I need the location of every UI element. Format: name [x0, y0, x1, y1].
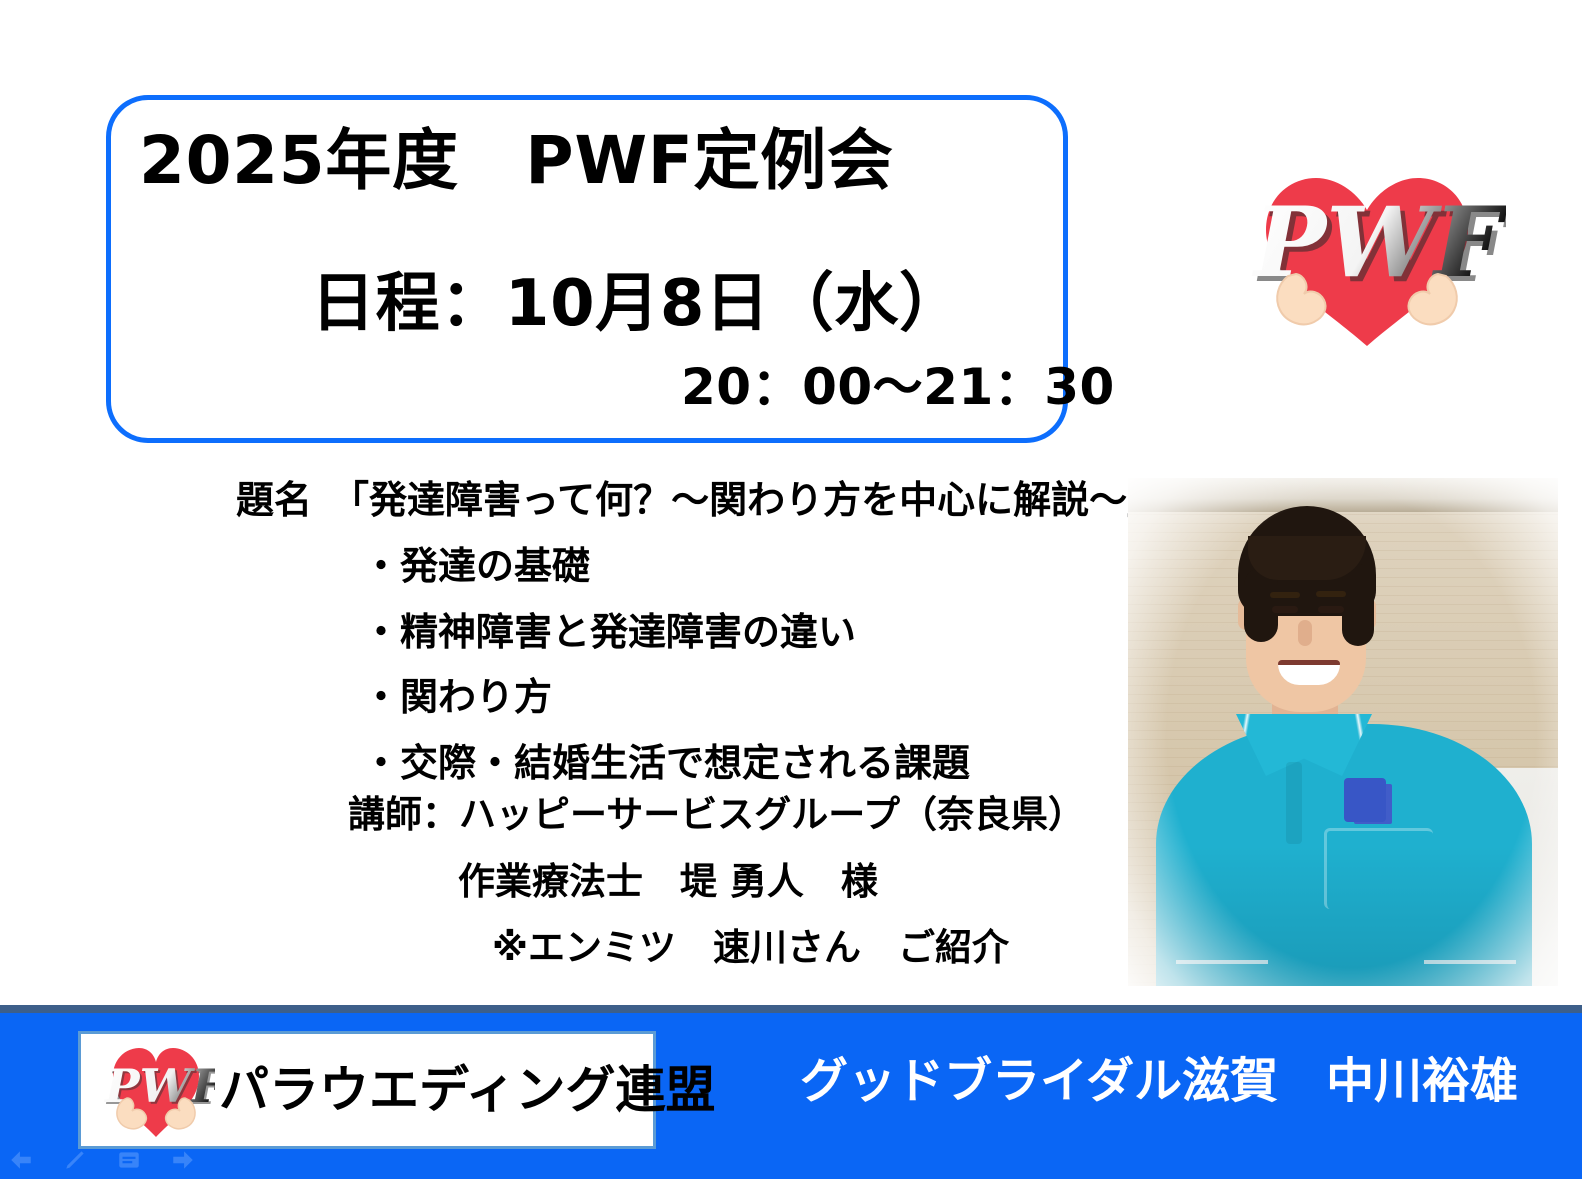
forward-arrow-icon[interactable]: [170, 1147, 196, 1173]
bullet-item-4: ・交際・結婚生活で想定される課題: [362, 743, 1096, 785]
polo-placket: [1286, 762, 1302, 844]
subject-line: 題名 「発達障害って何？〜関わり方を中心に解説〜」: [236, 480, 1096, 522]
event-time: 20：00〜21：30: [681, 362, 1115, 412]
lecturer-note: ※エンミツ 速川さん ご紹介: [492, 928, 1096, 969]
lecturer-block: 講師：ハッピーサービスグループ（奈良県） 作業療法士 堤 勇人 様 ※エンミツ …: [236, 795, 1096, 969]
lecturer-name: 作業療法士 堤 勇人 様: [458, 862, 1096, 903]
lecturer-organization: 講師：ハッピーサービスグループ（奈良県）: [348, 795, 1096, 836]
bullet-item-1: ・発達の基礎: [362, 546, 1096, 588]
mouth: [1278, 660, 1340, 685]
footer-sponsor-text: グッドブライダル滋賀 中川裕雄: [800, 1057, 1518, 1105]
sleeve-right: [1424, 960, 1516, 986]
back-arrow-icon[interactable]: [8, 1147, 34, 1173]
body-text-block: 題名 「発達障害って何？〜関わり方を中心に解説〜」 ・発達の基礎 ・精神障害と発…: [236, 480, 1096, 785]
sleeve-left: [1176, 960, 1268, 986]
event-date: 日程：10月8日（水）: [311, 272, 964, 336]
eyebrow-right: [1316, 591, 1346, 597]
lines-icon[interactable]: [116, 1147, 142, 1173]
footer-pwf-heart-icon: PWF PWF: [97, 1038, 215, 1142]
shirt-pocket: [1324, 828, 1433, 909]
footer-bar: PWF PWF パラウエディング連盟 グッドブライダル滋賀 中川裕雄: [0, 1005, 1582, 1179]
pwf-heart-logo: PWF PWF: [1228, 158, 1506, 354]
page-title: 2025年度 PWF定例会: [139, 128, 894, 194]
header-box: 2025年度 PWF定例会 日程：10月8日（水） 20：00〜21：30: [106, 95, 1068, 443]
footer-toolbar[interactable]: [8, 1147, 196, 1173]
footer-logo-text: パラウエディング連盟: [219, 1065, 716, 1115]
footer-top-strip: [0, 1005, 1582, 1013]
bullet-item-3: ・関わり方: [362, 677, 1096, 719]
eye-right: [1318, 606, 1344, 613]
bullet-item-2: ・精神障害と発達障害の違い: [362, 612, 1096, 654]
lecturer-photo: [1128, 478, 1558, 986]
footer-logo-box: PWF PWF パラウエディング連盟: [78, 1031, 656, 1149]
shirt-badge: [1344, 778, 1386, 822]
nose: [1298, 620, 1312, 646]
eyebrow-left: [1270, 592, 1300, 598]
wood-top-edge: [1128, 478, 1558, 512]
pen-icon[interactable]: [62, 1147, 88, 1173]
eye-left: [1272, 606, 1298, 613]
slide-canvas: 2025年度 PWF定例会 日程：10月8日（水） 20：00〜21：30 PW…: [0, 0, 1582, 1179]
